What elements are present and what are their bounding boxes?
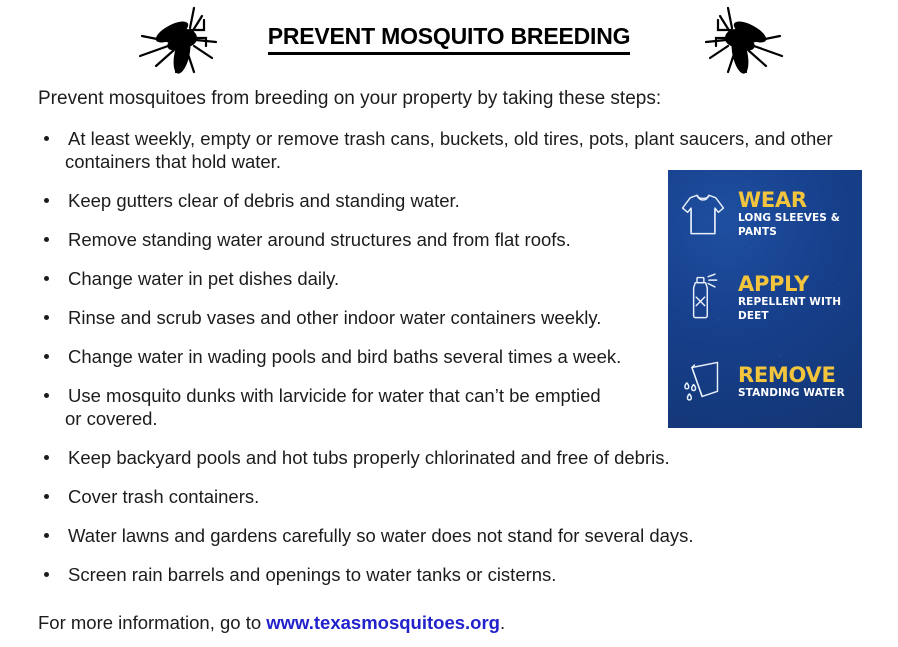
bullet-dot-icon — [44, 354, 49, 359]
infographic-row-wear: WEAR LONG SLEEVES & PANTS — [668, 174, 862, 254]
footer-suffix-text: . — [500, 612, 505, 633]
bullet-dot-icon — [44, 494, 49, 499]
list-item-text: Rinse and scrub vases and other indoor w… — [68, 307, 601, 328]
spray-bottle-icon — [668, 273, 738, 323]
infographic-heading: APPLY — [738, 273, 858, 295]
list-item: Water lawns and gardens carefully so wat… — [38, 524, 898, 547]
bullet-dot-icon — [44, 136, 49, 141]
list-item: At least weekly, empty or remove trash c… — [38, 127, 898, 173]
list-item: Keep backyard pools and hot tubs properl… — [38, 446, 898, 469]
list-item-text: At least weekly, empty or remove trash c… — [68, 128, 833, 149]
page-header: PREVENT MOSQUITO BREEDING — [0, 0, 898, 78]
list-item-text: Use mosquito dunks with larvicide for wa… — [68, 385, 601, 406]
infographic-heading: WEAR — [738, 189, 858, 211]
list-item-text: Change water in pet dishes daily. — [68, 268, 339, 289]
list-item-text: Change water in wading pools and bird ba… — [68, 346, 621, 367]
list-item-text: Cover trash containers. — [68, 486, 259, 507]
list-item-text: Keep backyard pools and hot tubs properl… — [68, 447, 670, 468]
bullet-dot-icon — [44, 572, 49, 577]
bullet-dot-icon — [44, 393, 49, 398]
bullet-dot-icon — [44, 315, 49, 320]
list-item: Screen rain barrels and openings to wate… — [38, 563, 898, 586]
infographic-row-apply: APPLY REPELLENT WITH DEET — [668, 258, 862, 338]
list-item-text: Water lawns and gardens carefully so wat… — [68, 525, 694, 546]
infographic-subtext: REPELLENT WITH DEET — [738, 295, 858, 323]
list-item-text: Remove standing water around structures … — [68, 229, 571, 250]
mosquito-icon — [686, 2, 790, 78]
list-item-text: Keep gutters clear of debris and standin… — [68, 190, 460, 211]
list-item: Keep gutters clear of debris and standin… — [38, 189, 658, 212]
infographic-subtext: LONG SLEEVES & PANTS — [738, 211, 858, 239]
list-item: Remove standing water around structures … — [38, 228, 658, 251]
texasmosquitoes-link[interactable]: www.texasmosquitoes.org — [266, 612, 500, 633]
infographic-text-remove: REMOVE STANDING WATER — [738, 364, 862, 400]
list-item: Rinse and scrub vases and other indoor w… — [38, 306, 658, 329]
prevention-infographic-panel: WEAR LONG SLEEVES & PANTS APPLY REPELLEN… — [668, 170, 862, 428]
list-item-text: Screen rain barrels and openings to wate… — [68, 564, 556, 585]
long-sleeve-shirt-icon — [668, 189, 738, 239]
bullet-dot-icon — [44, 198, 49, 203]
tipping-bucket-icon — [668, 357, 738, 407]
list-item: Cover trash containers. — [38, 485, 898, 508]
list-item-text-wrap: or covered. — [65, 407, 658, 430]
bullet-dot-icon — [44, 237, 49, 242]
infographic-row-remove: REMOVE STANDING WATER — [668, 342, 862, 422]
infographic-text-wear: WEAR LONG SLEEVES & PANTS — [738, 189, 862, 239]
infographic-text-apply: APPLY REPELLENT WITH DEET — [738, 273, 862, 323]
bullet-dot-icon — [44, 533, 49, 538]
footer-info-line: For more information, go to www.texasmos… — [38, 612, 505, 634]
list-item: Change water in pet dishes daily. — [38, 267, 658, 290]
infographic-heading: REMOVE — [738, 364, 858, 386]
footer-prefix-text: For more information, go to — [38, 612, 266, 633]
list-item: Use mosquito dunks with larvicide for wa… — [38, 384, 658, 430]
prevention-steps-list: At least weekly, empty or remove trash c… — [38, 127, 658, 602]
intro-paragraph: Prevent mosquitoes from breeding on your… — [38, 88, 661, 110]
infographic-subtext: STANDING WATER — [738, 386, 858, 400]
list-item: Change water in wading pools and bird ba… — [38, 345, 658, 368]
bullet-dot-icon — [44, 276, 49, 281]
bullet-dot-icon — [44, 455, 49, 460]
